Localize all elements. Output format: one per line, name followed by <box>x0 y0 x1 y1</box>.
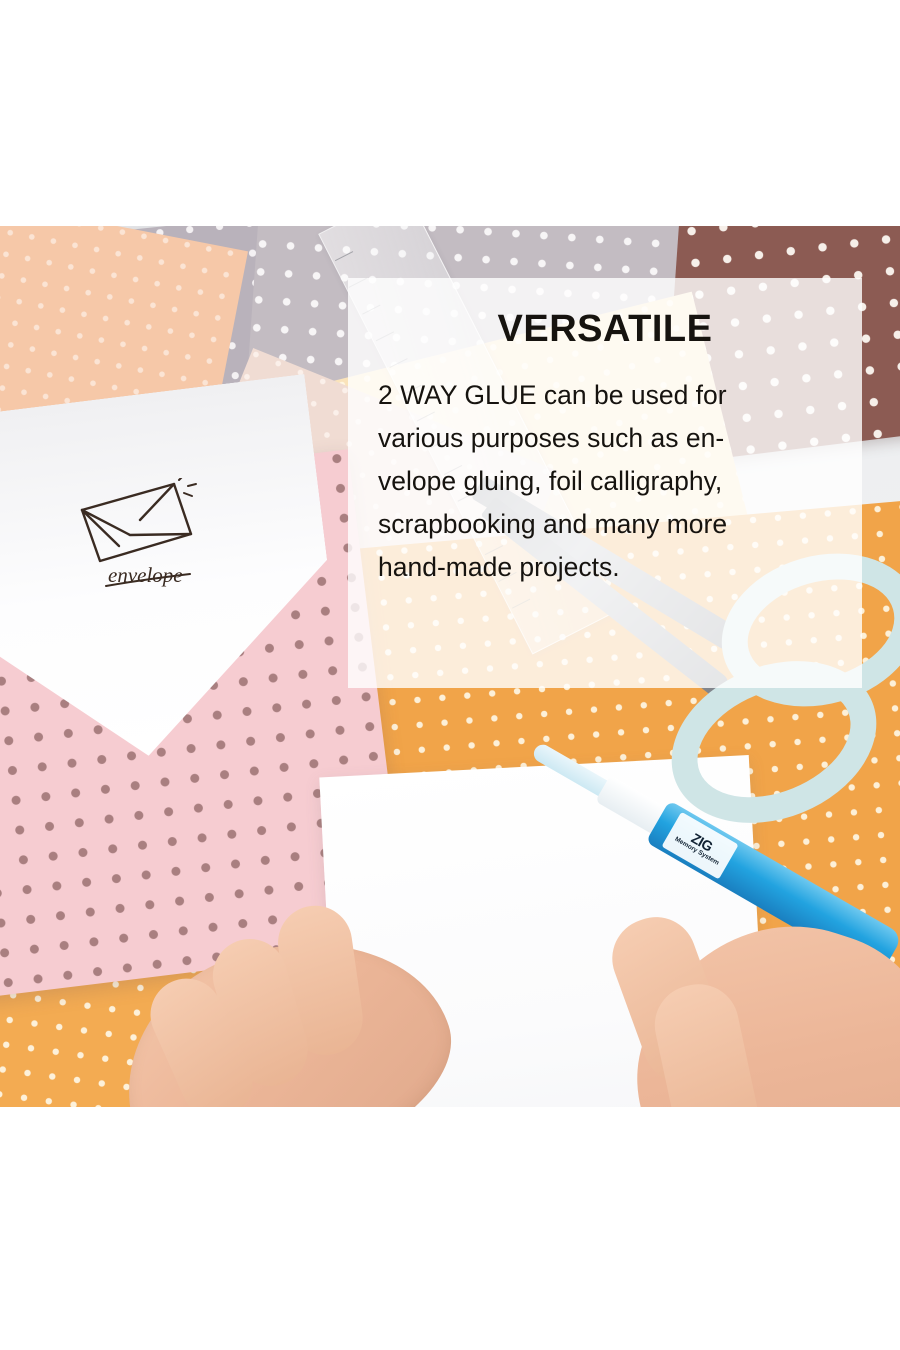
overlay-body-line: 2 WAY GLUE can be used for <box>378 374 850 417</box>
text-overlay-panel: VERSATILE 2 WAY GLUE can be used for var… <box>348 278 862 688</box>
overlay-body-line: scrapbooking and many more <box>378 503 850 546</box>
overlay-body: 2 WAY GLUE can be used for various purpo… <box>378 374 850 589</box>
overlay-title: VERSATILE <box>348 308 862 351</box>
overlay-body-line: hand-made projects. <box>378 546 850 589</box>
overlay-body-line: various purposes such as en- <box>378 417 850 460</box>
finger <box>647 977 765 1107</box>
image-canvas: ZIG Memory System envelope <box>0 0 900 1350</box>
overlay-body-line: velope gluing, foil calligraphy, <box>378 460 850 503</box>
envelope-doodle: envelope <box>78 478 202 588</box>
envelope-outline-icon: envelope <box>78 478 202 588</box>
